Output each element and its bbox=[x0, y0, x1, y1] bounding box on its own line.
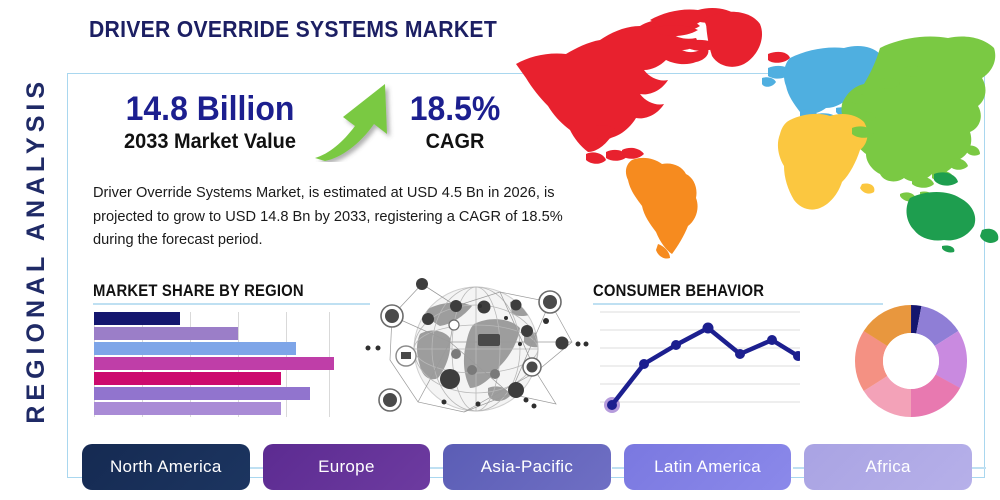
bar-row bbox=[94, 327, 334, 340]
side-label-text: REGIONAL ANALYSIS bbox=[22, 77, 51, 424]
region-button-label: Asia-Pacific bbox=[481, 457, 573, 477]
region-button-asia-pacific[interactable]: Asia-Pacific bbox=[443, 444, 611, 490]
bar-row bbox=[94, 387, 334, 400]
market-value-label: 2033 Market Value bbox=[101, 130, 320, 154]
bar-row bbox=[94, 357, 334, 370]
side-label: REGIONAL ANALYSIS bbox=[8, 0, 64, 500]
market-value-number: 14.8 Billion bbox=[102, 92, 318, 128]
consumer-behavior-underline bbox=[593, 303, 883, 305]
bar-2 bbox=[94, 327, 238, 340]
region-button-europe[interactable]: Europe bbox=[263, 444, 431, 490]
market-share-underline bbox=[93, 303, 370, 305]
growth-arrow-icon bbox=[313, 82, 403, 162]
region-button-label: North America bbox=[110, 457, 222, 477]
world-map-icon bbox=[500, 2, 1000, 270]
bar-6 bbox=[94, 387, 310, 400]
consumer-behavior-header: CONSUMER BEHAVIOR bbox=[593, 282, 764, 301]
bar-row bbox=[94, 312, 334, 325]
region-button-africa[interactable]: Africa bbox=[804, 444, 972, 490]
bar-row bbox=[94, 342, 334, 355]
cagr-number: 18.5% bbox=[394, 92, 516, 128]
global-network-globe-icon bbox=[360, 276, 592, 422]
region-button-label: Africa bbox=[866, 457, 911, 477]
region-button-label: Latin America bbox=[654, 457, 761, 477]
stats-row: 14.8 Billion 2033 Market Value 18.5% CAG… bbox=[95, 92, 515, 172]
page-title: DRIVER OVERRIDE SYSTEMS MARKET bbox=[89, 16, 497, 43]
region-button-latin-america[interactable]: Latin America bbox=[624, 444, 792, 490]
market-value-stat: 14.8 Billion 2033 Market Value bbox=[95, 92, 325, 154]
bar-3 bbox=[94, 342, 296, 355]
bar-7 bbox=[94, 402, 281, 415]
bar-5 bbox=[94, 372, 281, 385]
consumer-behavior-donut-chart bbox=[855, 305, 967, 417]
market-share-header: MARKET SHARE BY REGION bbox=[93, 282, 304, 301]
bar-row bbox=[94, 372, 334, 385]
bar-row bbox=[94, 402, 334, 415]
region-button-north-america[interactable]: North America bbox=[82, 444, 250, 490]
consumer-behavior-line-chart bbox=[600, 306, 800, 414]
region-button-label: Europe bbox=[318, 457, 375, 477]
cagr-label: CAGR bbox=[393, 130, 517, 154]
market-share-bar-chart bbox=[94, 312, 334, 417]
bar-1 bbox=[94, 312, 180, 325]
region-buttons: North America Europe Asia-Pacific Latin … bbox=[82, 444, 972, 490]
bar-4 bbox=[94, 357, 334, 370]
